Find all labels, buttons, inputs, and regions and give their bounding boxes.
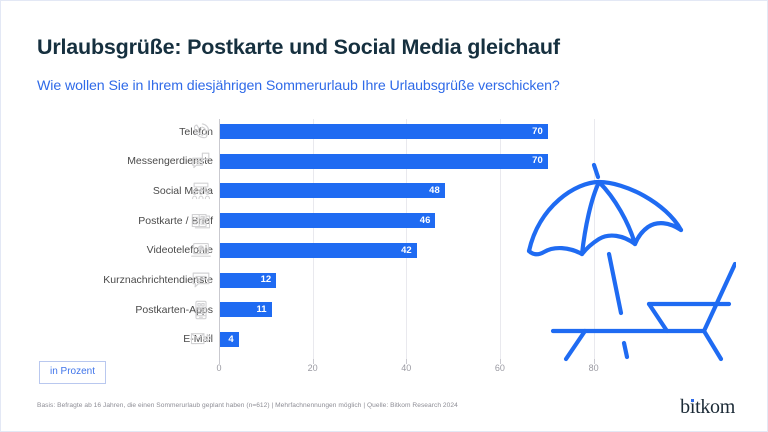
infographic-frame: Urlaubsgrüße: Postkarte und Social Media… bbox=[0, 0, 768, 432]
bitkom-logo-dot bbox=[691, 399, 694, 402]
bar-1: 70 bbox=[220, 124, 548, 139]
bitkom-logo: bitkom bbox=[680, 397, 735, 417]
bar-value-label: 12 bbox=[261, 275, 277, 285]
social-network-icon bbox=[190, 180, 212, 202]
bar-5: 42 bbox=[220, 243, 417, 258]
unit-legend: in Prozent bbox=[39, 361, 106, 384]
unit-legend-label: in Prozent bbox=[50, 366, 95, 377]
bar-8: 4 bbox=[220, 332, 239, 347]
video-call-laptop-icon bbox=[190, 239, 212, 261]
postcard-letter-icon bbox=[190, 210, 212, 232]
postcard-app-phone-icon bbox=[190, 299, 212, 321]
envelope-send-icon bbox=[190, 328, 212, 350]
beach-umbrella-and-deckchair-icon bbox=[521, 151, 736, 366]
bar-6: 12 bbox=[220, 273, 276, 288]
axis-tick-label: 20 bbox=[308, 363, 318, 373]
bar-7: 11 bbox=[220, 302, 272, 317]
bar-4: 46 bbox=[220, 213, 435, 228]
bar-value-label: 48 bbox=[429, 186, 445, 196]
messenger-bubbles-icon bbox=[190, 150, 212, 172]
bar-value-label: 46 bbox=[420, 216, 436, 226]
speech-bubble-icon bbox=[190, 269, 212, 291]
page-subtitle: Wie wollen Sie in Ihrem diesjährigen Som… bbox=[37, 78, 560, 94]
bar-value-label: 42 bbox=[401, 246, 417, 256]
bar-2: 70 bbox=[220, 154, 548, 169]
axis-tick-label: 40 bbox=[401, 363, 411, 373]
page-title: Urlaubsgrüße: Postkarte und Social Media… bbox=[37, 35, 560, 60]
bar-value-label: 70 bbox=[532, 127, 548, 137]
bar-value-label: 4 bbox=[228, 335, 238, 345]
bar-value-label: 11 bbox=[256, 305, 271, 315]
phone-icon bbox=[190, 121, 212, 143]
axis-tick-label: 0 bbox=[216, 363, 221, 373]
bar-3: 48 bbox=[220, 183, 445, 198]
bitkom-logo-text: bitkom bbox=[680, 396, 735, 418]
footnote: Basis: Befragte ab 16 Jahren, die einen … bbox=[37, 402, 458, 409]
axis-tick-label: 60 bbox=[495, 363, 505, 373]
